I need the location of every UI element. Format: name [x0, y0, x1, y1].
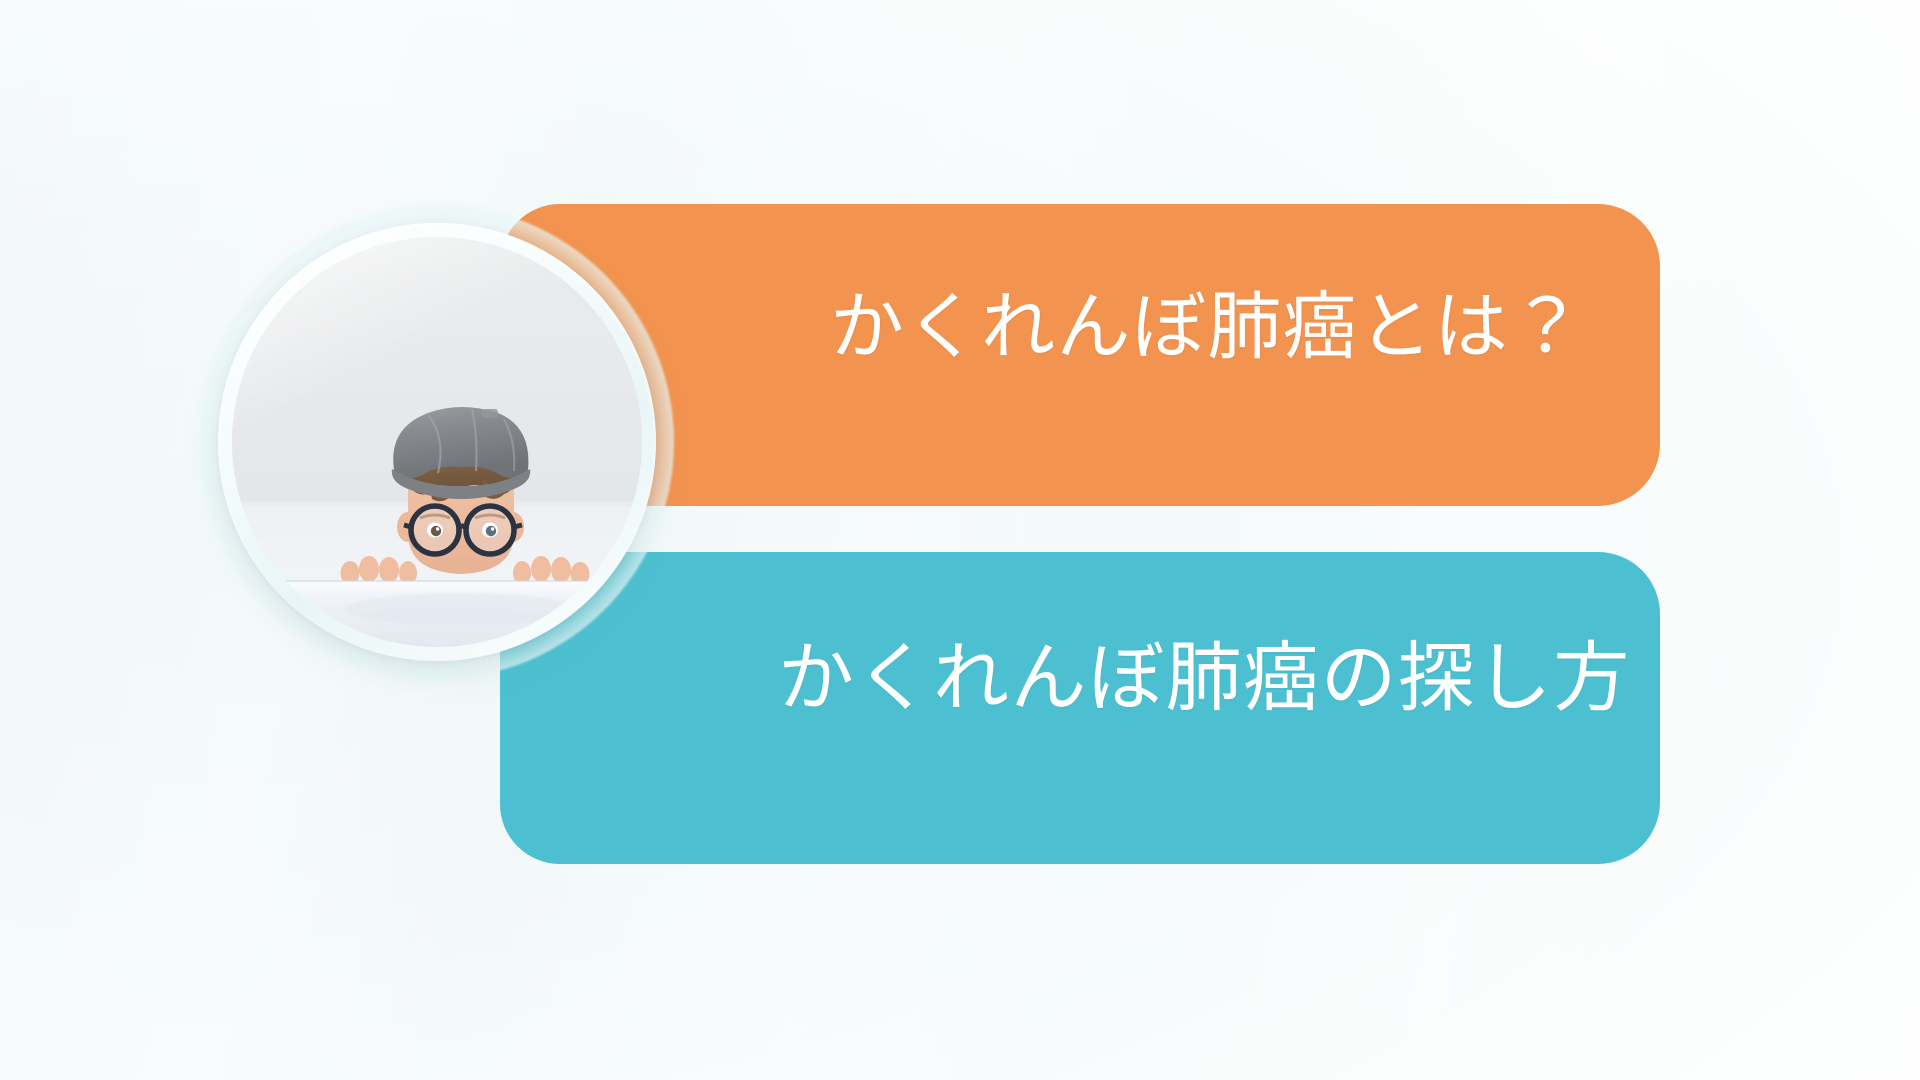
- child-illustration: [232, 237, 642, 647]
- child-peeking-photo: [232, 237, 642, 647]
- photo-scene: [232, 237, 642, 647]
- band-teal-label: かくれんぼ肺癌の探し方: [778, 640, 1631, 716]
- photo-badge[interactable]: [200, 205, 674, 679]
- band-orange-label: かくれんぼ肺癌とは？: [830, 290, 1585, 364]
- slide-canvas: かくれんぼ肺癌とは？ かくれんぼ肺癌の探し方: [0, 0, 1920, 1080]
- band-orange-right-cap: [1580, 204, 1660, 506]
